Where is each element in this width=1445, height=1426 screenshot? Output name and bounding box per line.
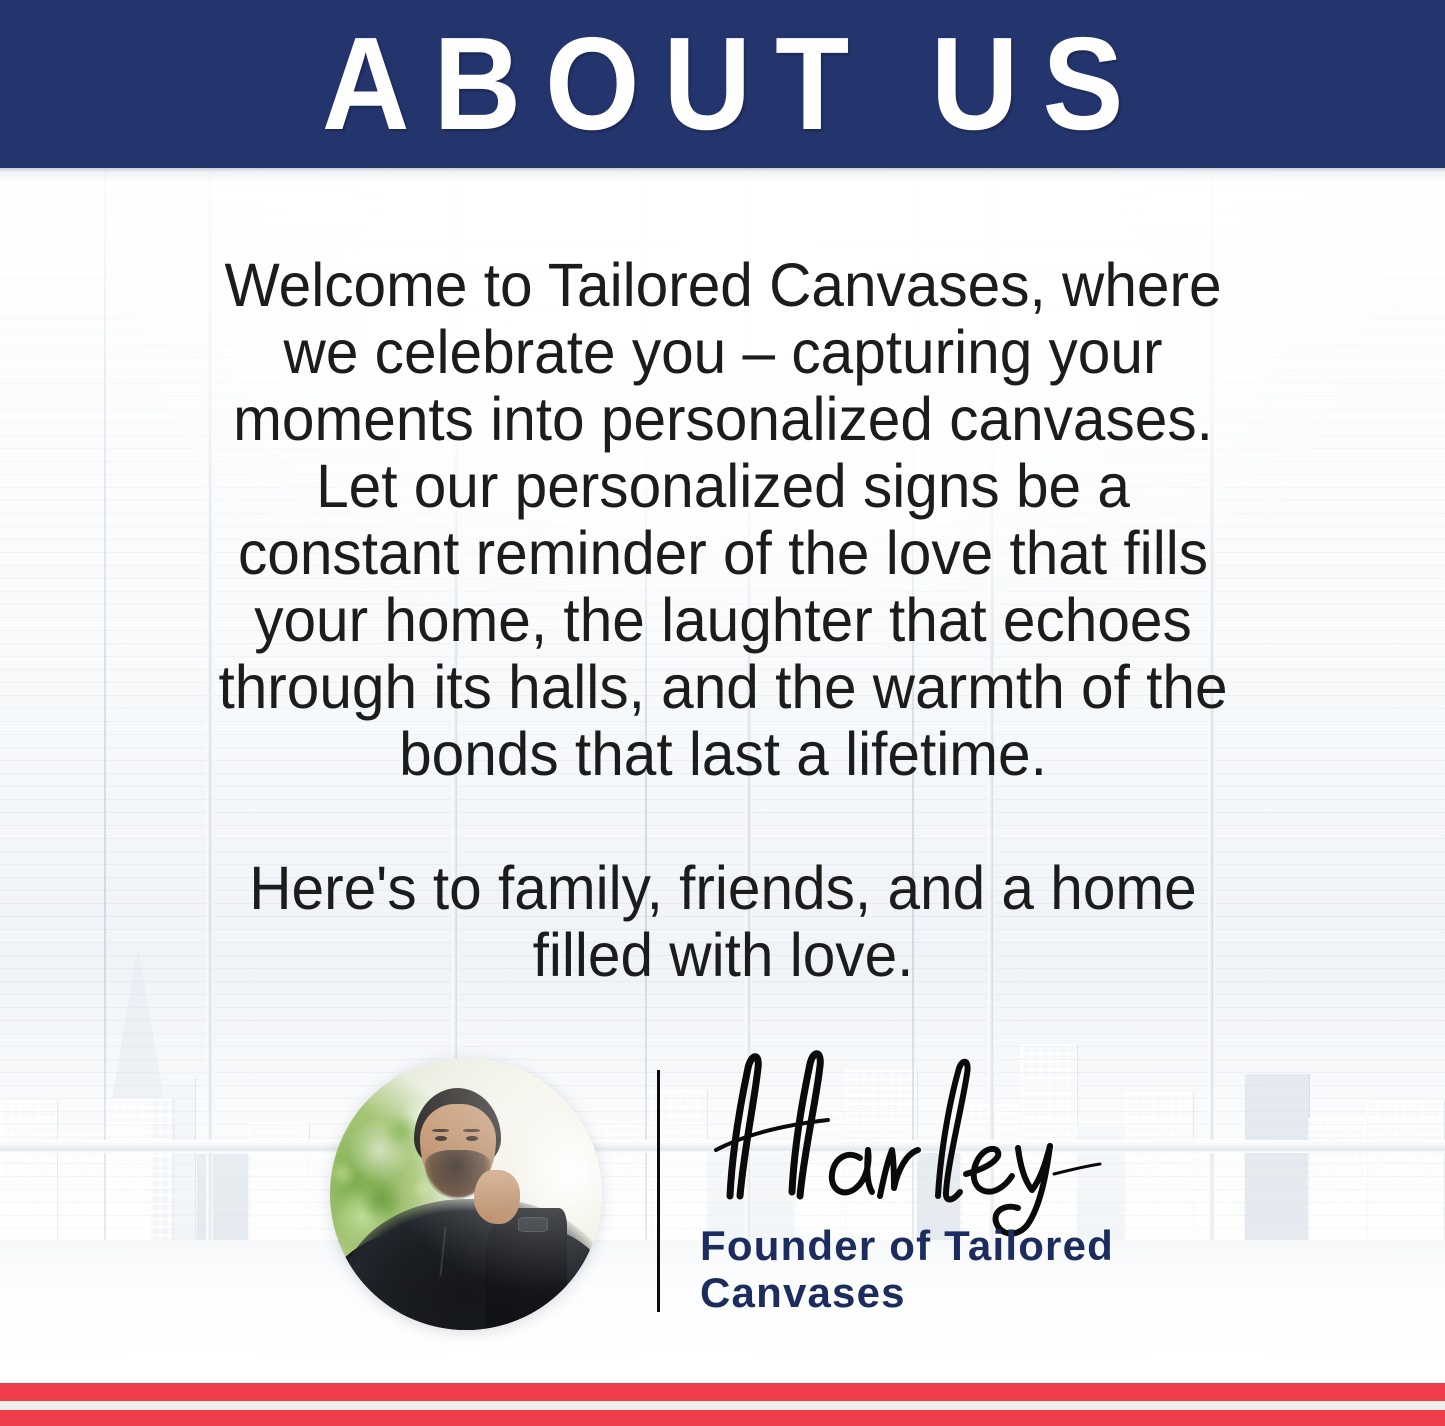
about-paragraph-1: Welcome to Tailored Canvases, where we c… xyxy=(200,252,1246,788)
signature-role-line-2: Canvases xyxy=(700,1269,1170,1316)
footer-stripe-red-top xyxy=(0,1383,1445,1401)
paragraph-spacer xyxy=(200,788,1246,855)
about-us-page: ABOUT US Welcome to Tailored Canvases, w… xyxy=(0,0,1445,1426)
about-paragraph-2: Here's to family, friends, and a home fi… xyxy=(200,855,1246,989)
avatar xyxy=(330,1058,602,1330)
page-header: ABOUT US xyxy=(0,0,1445,168)
founder-photo xyxy=(330,1058,602,1330)
signature-role-line-1: Founder of Tailored xyxy=(700,1222,1170,1269)
header-shadow xyxy=(0,168,1445,182)
page-title: ABOUT US xyxy=(298,18,1147,150)
signature-role: Founder of Tailored Canvases xyxy=(700,1222,1170,1316)
signature-divider xyxy=(657,1070,660,1312)
about-copy: Welcome to Tailored Canvases, where we c… xyxy=(200,252,1246,989)
footer-stripe-white xyxy=(0,1401,1445,1410)
signature-harley xyxy=(688,1046,1108,1236)
footer-stripe-red-bottom xyxy=(0,1410,1445,1426)
